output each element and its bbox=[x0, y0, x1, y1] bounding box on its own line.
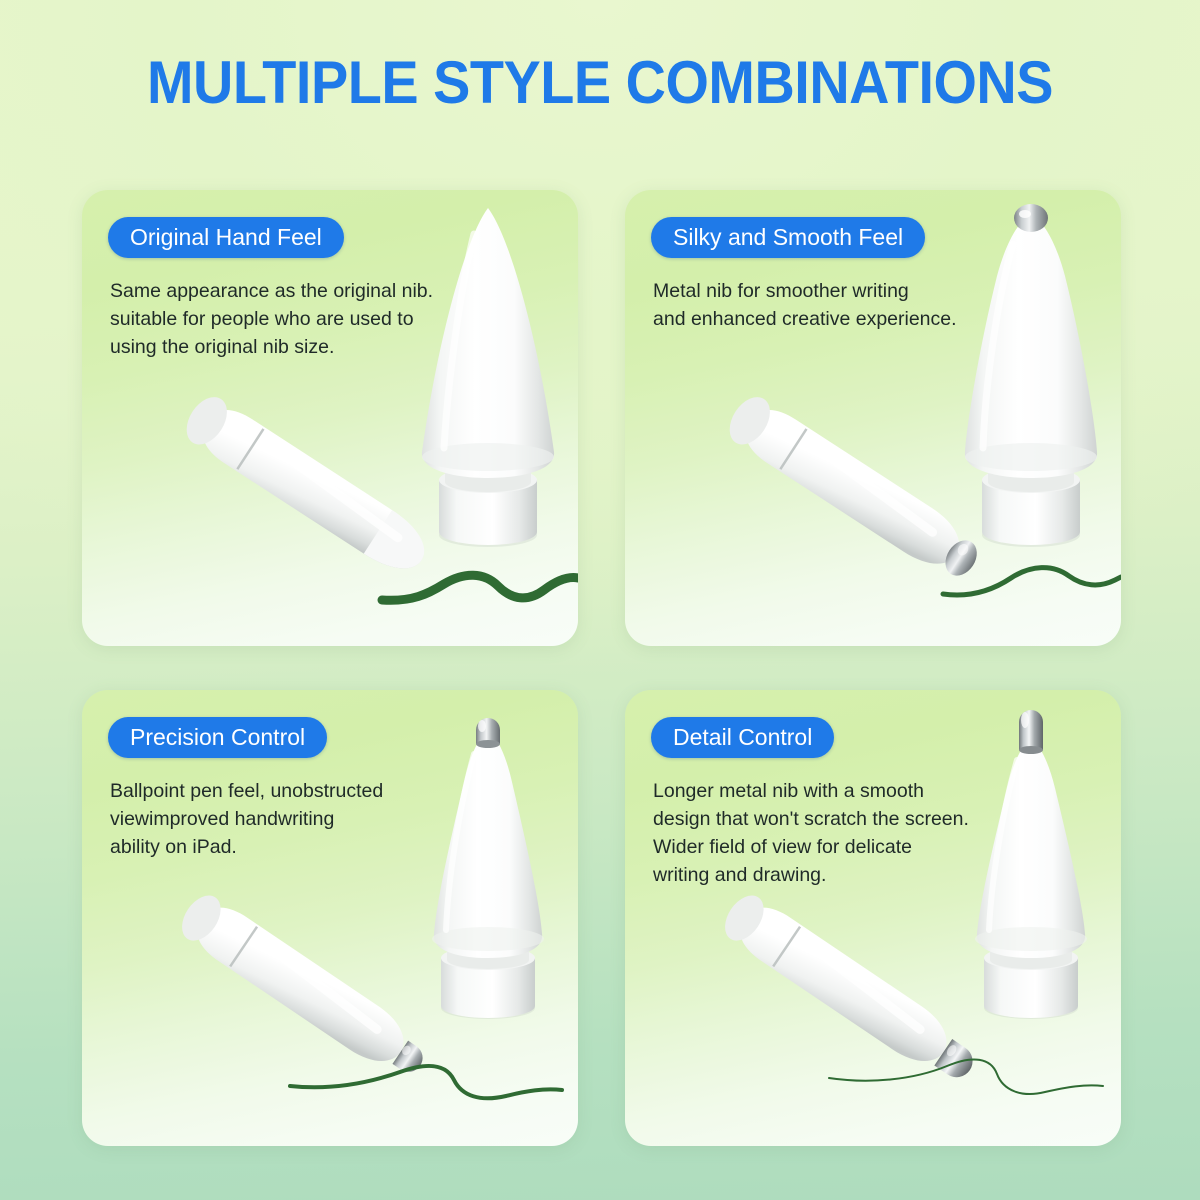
product-illustration-silky bbox=[625, 190, 1121, 646]
feature-card-precision-control: Precision Control Ballpoint pen feel, un… bbox=[82, 690, 578, 1146]
infographic-page: MULTIPLE STYLE COMBINATIONS bbox=[0, 0, 1200, 1200]
description-original-hand-feel: Same appearance as the original nib. sui… bbox=[110, 277, 482, 361]
feature-card-silky-and-smooth-feel: Silky and Smooth Feel Metal nib for smoo… bbox=[625, 190, 1121, 646]
feature-card-original-hand-feel: Original Hand Feel Same appearance as th… bbox=[82, 190, 578, 646]
description-precision-control: Ballpoint pen feel, unobstructed viewimp… bbox=[110, 777, 482, 861]
description-detail-control: Longer metal nib with a smooth design th… bbox=[653, 777, 1025, 889]
feature-card-detail-control: Detail Control Longer metal nib with a s… bbox=[625, 690, 1121, 1146]
badge-silky-and-smooth-feel: Silky and Smooth Feel bbox=[651, 217, 925, 258]
product-illustration-precision bbox=[82, 690, 578, 1146]
badge-detail-control: Detail Control bbox=[651, 717, 834, 758]
product-illustration-detail bbox=[625, 690, 1121, 1146]
description-silky-and-smooth-feel: Metal nib for smoother writing and enhan… bbox=[653, 277, 1025, 333]
page-title: MULTIPLE STYLE COMBINATIONS bbox=[42, 48, 1158, 117]
badge-original-hand-feel: Original Hand Feel bbox=[108, 217, 344, 258]
badge-precision-control: Precision Control bbox=[108, 717, 327, 758]
product-illustration-original bbox=[82, 190, 578, 646]
